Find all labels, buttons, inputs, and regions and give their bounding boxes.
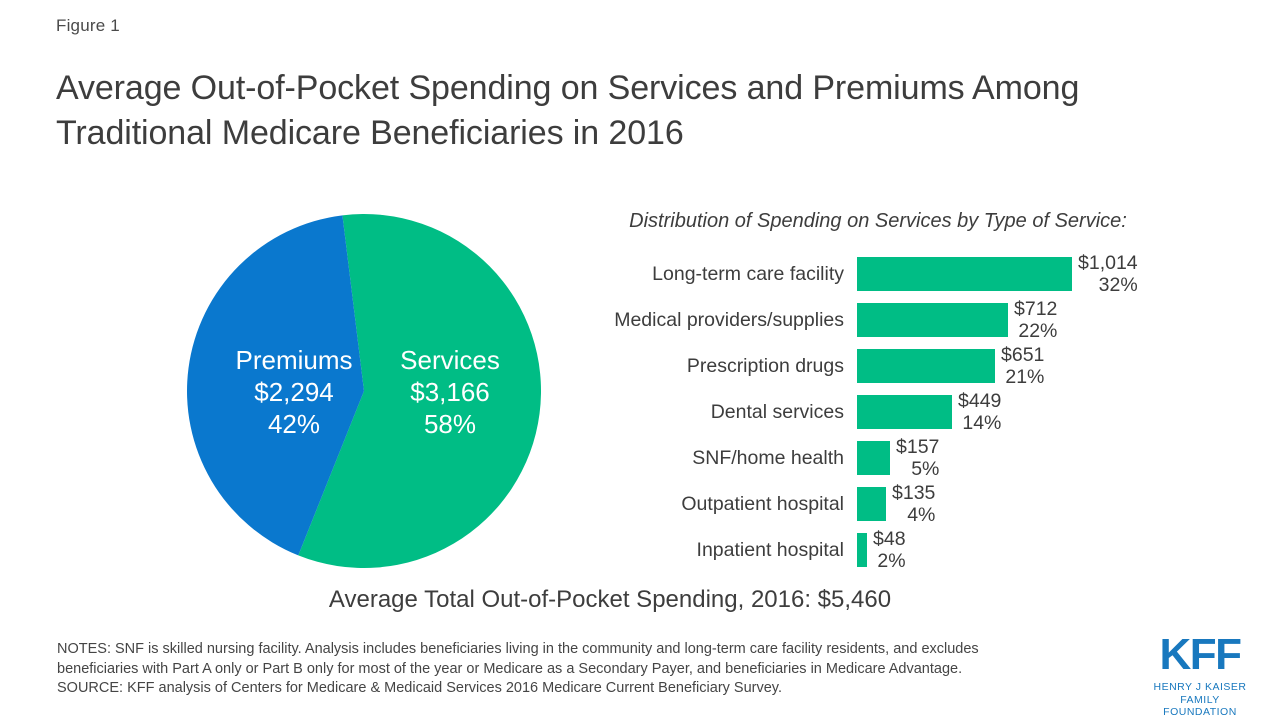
- bar-value-block: $1,01432%: [1078, 252, 1138, 296]
- bar-fill[interactable]: [857, 395, 952, 429]
- bar-value-block: $1575%: [896, 436, 939, 480]
- bar-category-label: Dental services: [588, 390, 844, 434]
- bar-value-amount: $48: [873, 528, 906, 550]
- kff-tagline-line-1: HENRY J KAISER: [1145, 681, 1255, 694]
- figure-label: Figure 1: [56, 16, 120, 36]
- bar-fill[interactable]: [857, 257, 1072, 291]
- pie-premiums-value: $2,294: [218, 376, 370, 408]
- bar-row: Medical providers/supplies$71222%: [588, 298, 1188, 344]
- bar-row: Long-term care facility$1,01432%: [588, 252, 1188, 298]
- footer-notes: NOTES: SNF is skilled nursing facility. …: [57, 640, 1092, 699]
- bar-row: Outpatient hospital$1354%: [588, 482, 1188, 528]
- bar-value-block: $482%: [873, 528, 906, 572]
- pie-premiums-name: Premiums: [218, 344, 370, 376]
- pie-services-value: $3,166: [376, 376, 524, 408]
- bar-value-percent: 2%: [873, 550, 906, 572]
- pie-chart: Premiums $2,294 42% Services $3,166 58%: [186, 213, 542, 569]
- page-title: Average Out-of-Pocket Spending on Servic…: [56, 66, 1216, 156]
- bar-row: Dental services$44914%: [588, 390, 1188, 436]
- bar-fill[interactable]: [857, 303, 1008, 337]
- bar-track: $1,01432%: [857, 257, 1188, 291]
- bar-track: $71222%: [857, 303, 1188, 337]
- bar-value-amount: $157: [896, 436, 939, 458]
- bar-value-percent: 5%: [896, 458, 939, 480]
- bar-fill[interactable]: [857, 487, 886, 521]
- bar-category-label: Medical providers/supplies: [588, 298, 844, 342]
- bar-value-amount: $712: [1014, 298, 1057, 320]
- bar-track: $482%: [857, 533, 1188, 567]
- bar-value-amount: $449: [958, 390, 1001, 412]
- bar-category-label: Inpatient hospital: [588, 528, 844, 572]
- bar-value-percent: 14%: [958, 412, 1001, 434]
- kff-logo: KFF HENRY J KAISER FAMILY FOUNDATION: [1145, 633, 1255, 719]
- bar-track: $65121%: [857, 349, 1188, 383]
- kff-tagline: HENRY J KAISER FAMILY FOUNDATION: [1145, 681, 1255, 719]
- bar-value-block: $1354%: [892, 482, 935, 526]
- bar-value-block: $44914%: [958, 390, 1001, 434]
- bar-track: $44914%: [857, 395, 1188, 429]
- bar-category-label: Outpatient hospital: [588, 482, 844, 526]
- bar-value-block: $65121%: [1001, 344, 1044, 388]
- bar-chart: Distribution of Spending on Services by …: [588, 210, 1188, 580]
- source-line: SOURCE: KFF analysis of Centers for Medi…: [57, 679, 1092, 699]
- bar-value-percent: 21%: [1001, 366, 1044, 388]
- bar-fill[interactable]: [857, 533, 867, 567]
- pie-label-premiums: Premiums $2,294 42%: [218, 344, 370, 440]
- bar-fill[interactable]: [857, 349, 995, 383]
- bar-track: $1575%: [857, 441, 1188, 475]
- bar-value-block: $71222%: [1014, 298, 1057, 342]
- pie-premiums-pct: 42%: [218, 408, 370, 440]
- pie-label-services: Services $3,166 58%: [376, 344, 524, 440]
- bar-track: $1354%: [857, 487, 1188, 521]
- bar-value-amount: $651: [1001, 344, 1044, 366]
- pie-services-pct: 58%: [376, 408, 524, 440]
- bar-row: Inpatient hospital$482%: [588, 528, 1188, 574]
- bar-chart-subtitle: Distribution of Spending on Services by …: [593, 210, 1163, 233]
- total-spending-line: Average Total Out-of-Pocket Spending, 20…: [60, 586, 1160, 614]
- kff-tagline-line-2: FAMILY FOUNDATION: [1145, 694, 1255, 719]
- bar-value-percent: 32%: [1078, 274, 1138, 296]
- bar-category-label: Prescription drugs: [588, 344, 844, 388]
- bar-category-label: SNF/home health: [588, 436, 844, 480]
- notes-line-2: beneficiaries with Part A only or Part B…: [57, 660, 1092, 680]
- pie-services-name: Services: [376, 344, 524, 376]
- bar-value-percent: 4%: [892, 504, 935, 526]
- bar-fill[interactable]: [857, 441, 890, 475]
- notes-line-1: NOTES: SNF is skilled nursing facility. …: [57, 640, 1092, 660]
- bar-row: Prescription drugs$65121%: [588, 344, 1188, 390]
- bar-value-amount: $1,014: [1078, 252, 1138, 274]
- bar-row: SNF/home health$1575%: [588, 436, 1188, 482]
- bar-value-percent: 22%: [1014, 320, 1057, 342]
- bar-category-label: Long-term care facility: [588, 252, 844, 296]
- kff-wordmark: KFF: [1145, 633, 1255, 677]
- bar-value-amount: $135: [892, 482, 935, 504]
